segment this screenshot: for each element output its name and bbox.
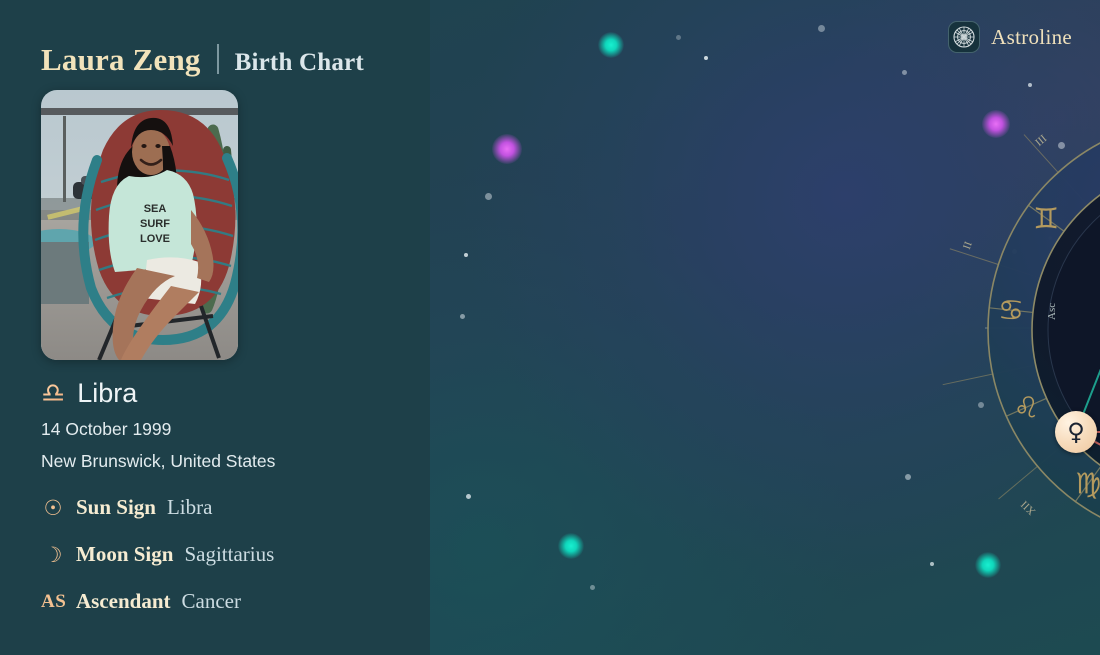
- star-dot: [905, 474, 911, 480]
- person-name: Laura Zeng: [41, 42, 201, 78]
- star-dot: [902, 70, 907, 75]
- sun-sign-label: Sun Sign: [76, 495, 156, 520]
- libra-icon: ♎: [41, 378, 65, 409]
- zodiac-glyph-gemini: ♊: [1033, 201, 1059, 235]
- chart-type-label: Birth Chart: [235, 49, 364, 77]
- star-dot: [818, 25, 825, 32]
- star-dot: [930, 562, 934, 566]
- zodiac-wheel-icon: [948, 21, 980, 53]
- moon-icon: ☽: [41, 543, 65, 567]
- star-dot: [704, 56, 708, 60]
- profile-photo-image: SEA SURF LOVE: [41, 90, 238, 360]
- birth-place: New Brunswick, United States: [41, 451, 275, 472]
- venus-icon: ♀: [1067, 420, 1085, 444]
- house-numeral-XII: XII: [1019, 498, 1039, 517]
- svg-text:LOVE: LOVE: [140, 233, 170, 245]
- star-dot: [485, 193, 492, 200]
- house-numeral-II: II: [961, 240, 975, 251]
- moon-sign-value: Sagittarius: [184, 542, 274, 567]
- sun-sign-value: Libra: [167, 495, 212, 520]
- birth-chart-screen: ♋♊♉♈♓♒♑♐♏♎♍♌ IIIIIIVVVIVIIVIIIIXXXIXII A…: [0, 0, 1100, 655]
- star-glow-teal-2: [558, 533, 584, 559]
- attribute-row-ascendant: AS Ascendant Cancer: [41, 589, 241, 614]
- birth-date: 14 October 1999: [41, 419, 171, 440]
- moon-sign-label: Moon Sign: [76, 542, 173, 567]
- brand-logo[interactable]: Astroline: [948, 21, 1072, 53]
- page-title: Laura Zeng Birth Chart: [41, 40, 364, 78]
- star-glow-teal-3: [975, 552, 1001, 578]
- star-dot: [464, 253, 468, 257]
- star-glow-teal-1: [598, 32, 624, 58]
- star-dot: [676, 35, 681, 40]
- chart-wheel-svg: ♋♊♉♈♓♒♑♐♏♎♍♌ IIIIIIVVVIVIIVIIIIXXXIXII A…: [975, 105, 1100, 555]
- star-dot: [590, 585, 595, 590]
- ascendant-icon: AS: [41, 591, 65, 613]
- asc-label: Asc: [1046, 303, 1058, 320]
- star-dot: [1028, 83, 1032, 87]
- sun-sign-name: Libra: [77, 378, 137, 409]
- svg-text:SURF: SURF: [140, 218, 170, 230]
- sun-icon: ☉: [41, 496, 65, 520]
- zodiac-glyph-leo: ♌: [1013, 390, 1039, 424]
- star-dot: [460, 314, 465, 319]
- house-numeral-III: III: [1033, 132, 1049, 148]
- svg-text:SEA: SEA: [144, 203, 167, 215]
- sun-sign-heading: ♎ Libra: [41, 378, 137, 409]
- chart-sky-panel: ♋♊♉♈♓♒♑♐♏♎♍♌ IIIIIIVVVIVIIVIIIIXXXIXII A…: [430, 0, 1100, 655]
- brand-name: Astroline: [991, 25, 1072, 50]
- attribute-row-moon-sign: ☽ Moon Sign Sagittarius: [41, 542, 274, 567]
- profile-photo[interactable]: SEA SURF LOVE: [41, 90, 238, 360]
- title-divider: [217, 44, 219, 74]
- zodiac-glyph-cancer: ♋: [998, 293, 1024, 327]
- profile-panel: Laura Zeng Birth Chart: [0, 0, 430, 655]
- zodiac-glyph-virgo: ♍: [1075, 467, 1100, 501]
- ascendant-label: Ascendant: [76, 589, 171, 614]
- planet-marker-venus[interactable]: ♀: [1055, 411, 1097, 453]
- ascendant-value: Cancer: [182, 589, 241, 614]
- star-glow-purple-1: [492, 134, 522, 164]
- natal-chart-wheel[interactable]: ♋♊♉♈♓♒♑♐♏♎♍♌ IIIIIIVVVIVIIVIIIIXXXIXII A…: [975, 105, 1100, 555]
- star-dot: [466, 494, 471, 499]
- attribute-row-sun-sign: ☉ Sun Sign Libra: [41, 495, 212, 520]
